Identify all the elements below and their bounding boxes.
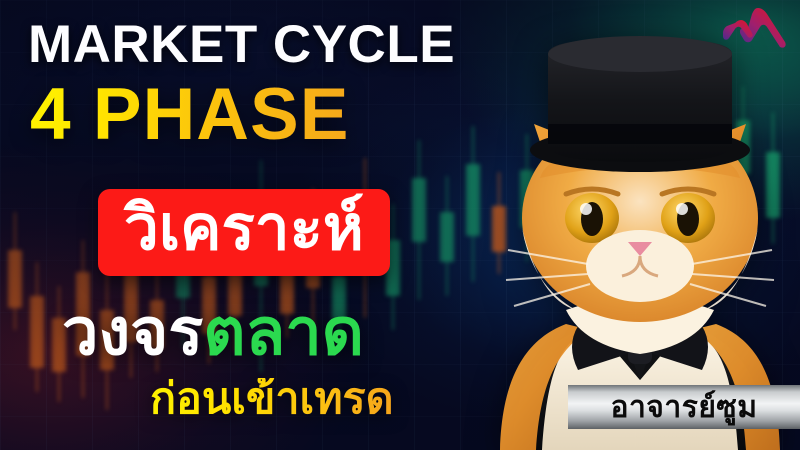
page-title-line1: MARKET CYCLE — [28, 18, 455, 71]
presenter-name-label: อาจารย์ซูม — [610, 384, 757, 431]
presenter-name-badge: อาจารย์ซูม — [568, 385, 800, 429]
brand-logo-icon — [722, 6, 788, 50]
subheadline: วงจรตลาด — [62, 300, 364, 365]
highlight-badge: วิเคราะห์ — [98, 189, 390, 276]
subheadline-white-part: วงจร — [62, 295, 203, 370]
thumbnail-canvas: MARKET CYCLE 4 PHASE วิเคราะห์ วงจรตลาด … — [0, 0, 800, 450]
page-title-line2: 4 PHASE — [30, 78, 349, 151]
tagline: ก่อนเข้าเทรด — [150, 378, 394, 421]
highlight-badge-label: วิเคราะห์ — [124, 195, 364, 262]
subheadline-green-part: ตลาด — [203, 295, 364, 370]
top-hat-icon — [530, 36, 750, 172]
